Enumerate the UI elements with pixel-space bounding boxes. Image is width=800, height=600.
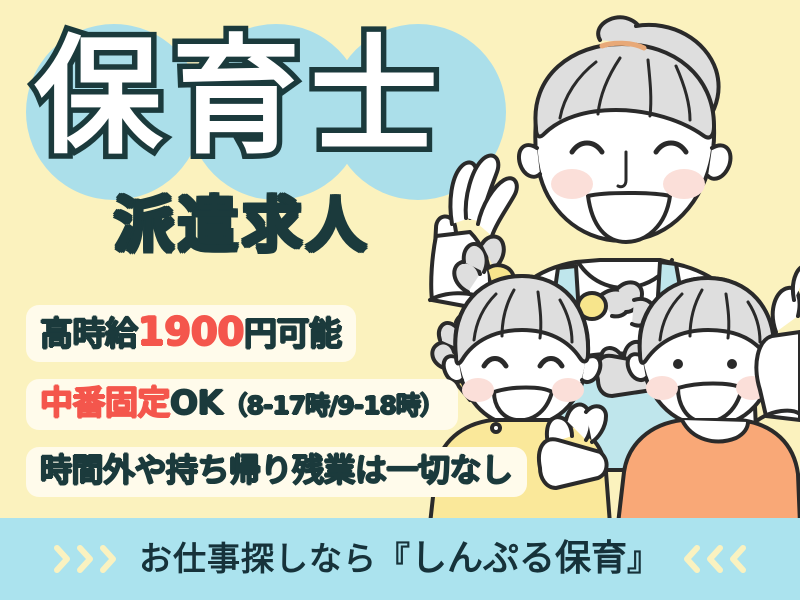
chevrons-right-group [54,545,117,573]
list-item: 中番固定OK（8-17時/9-18時） [26,379,458,430]
list-item: 時間外や持ち帰り残業は一切なし [26,447,527,497]
bullet-shift-label: 中番固定 [40,383,170,422]
page-subtitle: 派遣求人 [114,196,370,256]
bullet-overtime-text: 時間外や持ち帰り残業は一切なし [40,451,513,489]
chevron-left-icon [729,545,746,573]
banner-tagline: お仕事探しなら『しんぷる保育』 [139,541,661,577]
list-item: 高時給1900円可能 [26,305,356,362]
chevron-right-icon [100,545,117,573]
bottom-banner: お仕事探しなら『しんぷる保育』 [0,518,800,600]
chevron-right-icon [77,545,94,573]
chevron-left-icon [706,545,723,573]
banner-trail-text: 』 [627,539,661,578]
bullet-wage-prefix: 高時給 [40,314,138,353]
chevron-left-icon [683,545,700,573]
banner-lead-text: お仕事探しなら『 [139,539,411,578]
bullet-wage-suffix: 円可能 [244,314,342,353]
bullet-shift-hours: （8-17時/9-18時） [223,391,444,420]
poster-root: 保育士 派遣求人 高時給1900円可能 中番固定OK（8-17時/9-18時） … [0,0,800,600]
benefit-list: 高時給1900円可能 中番固定OK（8-17時/9-18時） 時間外や持ち帰り残… [26,305,527,497]
chevron-right-icon [54,545,71,573]
chevrons-left-group [683,545,746,573]
bullet-shift-ok: OK [170,383,223,422]
brand-name: しんぷる保育 [411,538,627,579]
bullet-wage-amount: 1900 [138,310,245,355]
page-title: 保育士 [34,34,448,162]
